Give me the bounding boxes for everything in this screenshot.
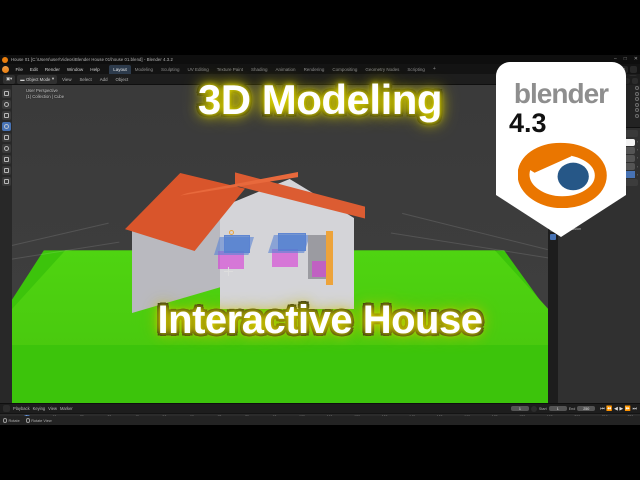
jump-start-button[interactable]: ⏮ (600, 406, 605, 412)
end-label: End (569, 407, 576, 411)
tab-shading[interactable]: Shading (247, 65, 272, 74)
screenshot-root: House 01 [C:\Users\user\Videos\Blender H… (0, 0, 640, 480)
letterbox-bottom (0, 425, 640, 480)
window-glass-left[interactable] (224, 235, 250, 253)
chevron-right-icon[interactable]: › (637, 156, 638, 160)
house-model[interactable] (132, 173, 352, 313)
mouse-middle-icon (26, 418, 30, 423)
tab-animation[interactable]: Animation (272, 65, 300, 74)
tab-texture-paint[interactable]: Texture Paint (213, 65, 247, 74)
chevron-right-icon[interactable]: › (637, 148, 638, 152)
tab-modeling[interactable]: Modeling (131, 65, 157, 74)
start-frame-field[interactable]: 1 (549, 406, 567, 411)
menu-window[interactable]: Window (63, 67, 86, 72)
tab-geometry-nodes[interactable]: Geometry Nodes (361, 65, 403, 74)
menu-marker[interactable]: Marker (60, 406, 73, 411)
measure-tool-button[interactable] (2, 166, 11, 175)
scale-tool-button[interactable] (2, 133, 11, 142)
tab-compositing[interactable]: Compositing (328, 65, 361, 74)
close-button[interactable]: ✕ (634, 56, 638, 62)
menu-keying[interactable]: Keying (33, 406, 46, 411)
blender-wordmark: blender (496, 78, 626, 110)
window-title: House 01 [C:\Users\user\Videos\Blender H… (11, 57, 173, 62)
auto-keying-icon[interactable] (531, 406, 537, 412)
tab-scripting[interactable]: Scripting (403, 65, 429, 74)
3d-viewport[interactable]: User Perspective (1) Collection | Cube O… (0, 85, 548, 403)
annotate-tool-button[interactable] (2, 155, 11, 164)
window-glass-right[interactable] (278, 233, 306, 251)
letterbox-top (0, 0, 640, 55)
tab-sculpting[interactable]: Sculpting (157, 65, 184, 74)
chevron-right-icon[interactable]: › (637, 173, 638, 177)
tab-uv-editing[interactable]: UV Editing (184, 65, 213, 74)
status-bar: Rotate Rotate View (0, 416, 640, 425)
timeline-icon[interactable] (3, 405, 10, 412)
timeline-header: Playback Keying View Marker 1 Start 1 En… (0, 404, 640, 413)
play-button[interactable]: ▶ (619, 406, 623, 412)
blender-logo-icon (2, 57, 8, 63)
3d-cursor[interactable] (224, 267, 233, 276)
end-frame-field[interactable]: 250 (577, 406, 595, 411)
workspace-tabs: Layout Modeling Sculpting UV Editing Tex… (109, 65, 440, 74)
status-label: Rotate View (31, 419, 51, 423)
blender-logo-mark (518, 132, 610, 208)
minimize-button[interactable]: – (614, 56, 617, 62)
jump-end-button[interactable]: ⏭ (632, 406, 637, 412)
blender-menu-icon[interactable] (2, 66, 9, 73)
transform-tool-button[interactable] (2, 144, 11, 153)
thumbnail-subtitle: Interactive House (0, 298, 640, 343)
menu-edit[interactable]: Edit (26, 67, 41, 72)
tab-rendering[interactable]: Rendering (300, 65, 329, 74)
add-workspace-button[interactable]: + (429, 66, 440, 72)
mouse-left-icon (3, 418, 7, 423)
menu-render[interactable]: Render (41, 67, 63, 72)
viewport-toolbar (0, 85, 12, 403)
status-label: Rotate (9, 419, 20, 423)
menu-playback[interactable]: Playback (13, 406, 30, 411)
maximize-button[interactable]: □ (624, 56, 627, 62)
prev-keyframe-button[interactable]: ⏪ (606, 406, 612, 412)
playback-transport: ⏮ ⏪ ◀ ▶ ⏩ ⏭ (600, 406, 637, 412)
menu-help[interactable]: Help (87, 67, 103, 72)
timeline-controls: 1 Start 1 End 250 ⏮ ⏪ ◀ ▶ ⏩ ⏭ (511, 406, 637, 412)
menu-view[interactable]: View (48, 406, 57, 411)
next-keyframe-button[interactable]: ⏩ (625, 406, 631, 412)
object-origin (229, 230, 234, 235)
status-item-rotate: Rotate (3, 418, 20, 423)
status-item-rotate-view: Rotate View (26, 418, 52, 423)
tab-layout[interactable]: Layout (109, 65, 131, 74)
play-reverse-button[interactable]: ◀ (614, 406, 618, 412)
chevron-right-icon[interactable]: › (637, 165, 638, 169)
material-tab[interactable] (550, 234, 556, 240)
add-cube-tool-button[interactable] (2, 177, 11, 186)
new-viewlayer-button[interactable] (630, 66, 637, 73)
window-controls[interactable]: – □ ✕ (614, 56, 638, 62)
door-panel[interactable] (326, 231, 333, 285)
current-frame-field[interactable]: 1 (511, 406, 529, 411)
chevron-right-icon[interactable]: › (637, 140, 638, 144)
menu-file[interactable]: File (12, 67, 26, 72)
start-label: Start (539, 407, 547, 411)
